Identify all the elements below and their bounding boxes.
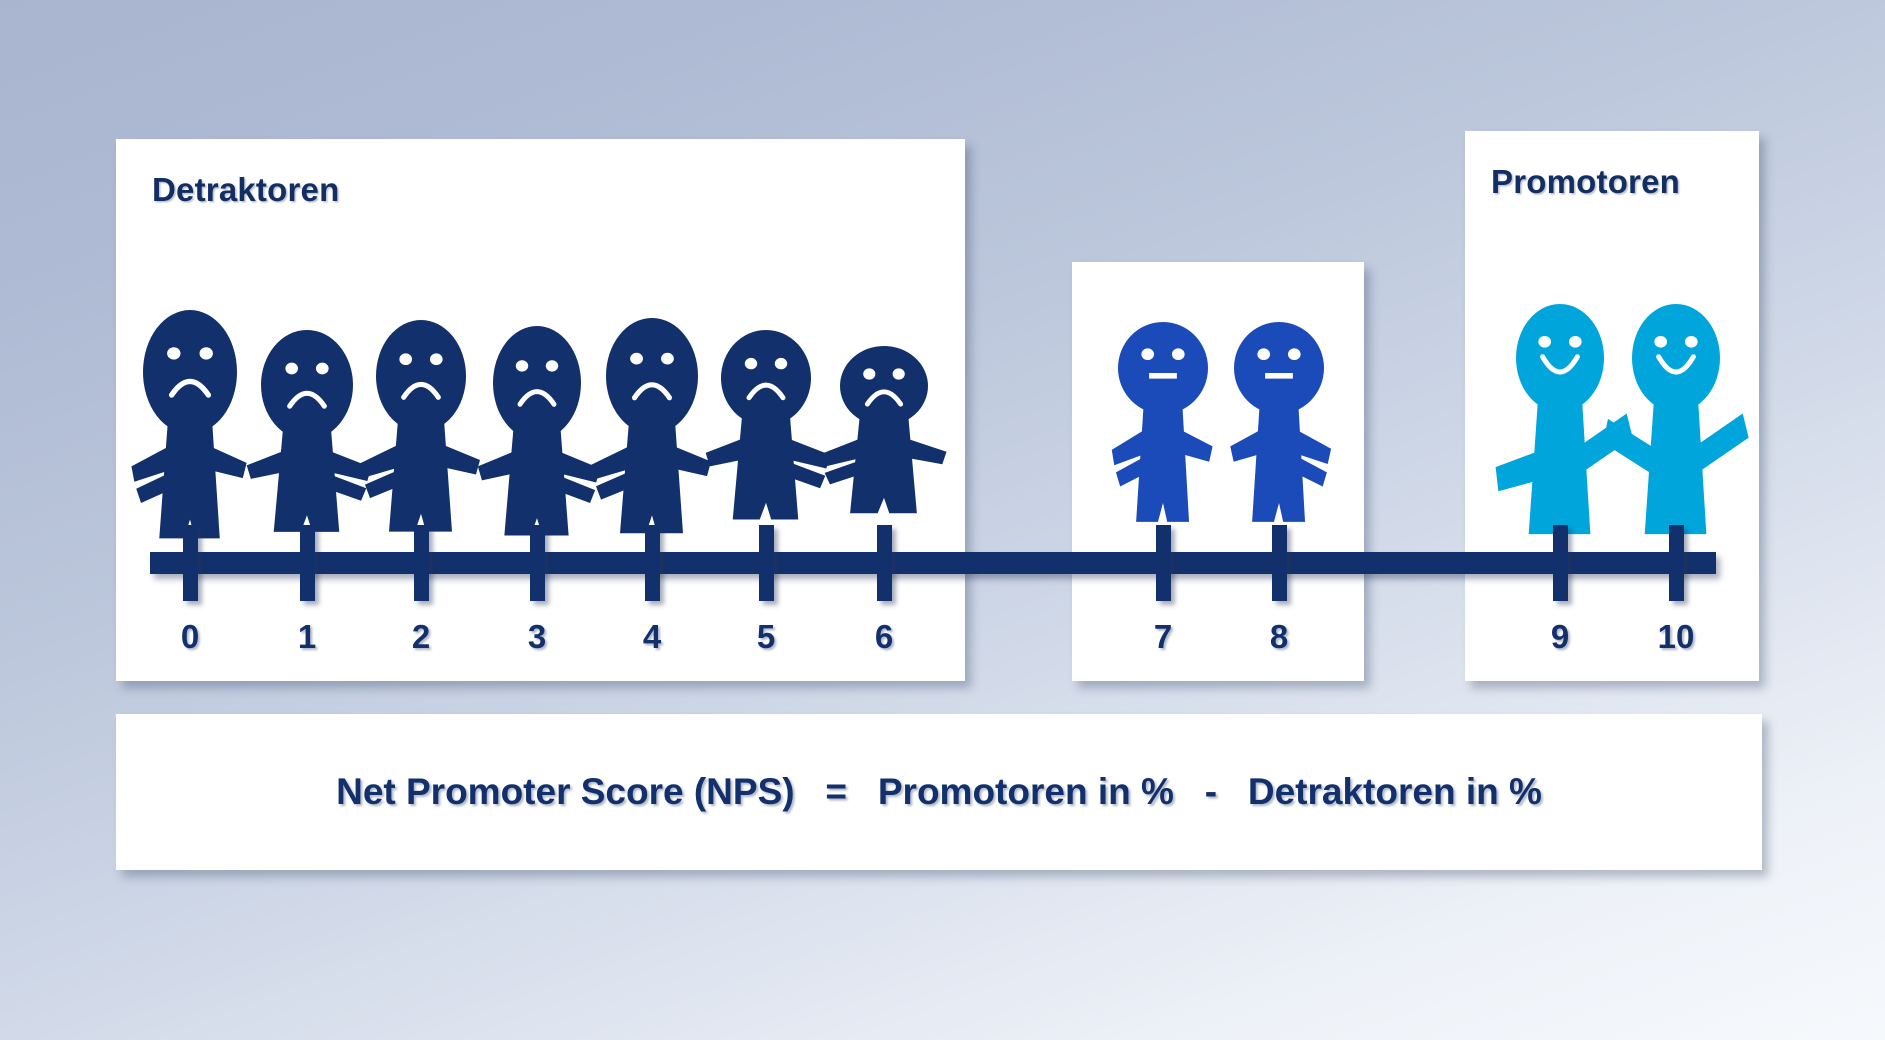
tick-mark-7 — [1156, 525, 1171, 601]
tick-label-7: 7 — [1128, 618, 1198, 656]
tick-label-3: 3 — [502, 618, 572, 656]
tick-mark-9 — [1553, 525, 1568, 601]
nps-diagram-slide: Detraktoren Promotoren 012345678910 Net … — [0, 0, 1885, 1040]
tick-mark-3 — [530, 525, 545, 601]
tick-label-5: 5 — [731, 618, 801, 656]
promoters-title: Promotoren — [1491, 163, 1680, 201]
tick-label-0: 0 — [155, 618, 225, 656]
tick-mark-4 — [645, 525, 660, 601]
tick-label-1: 1 — [272, 618, 342, 656]
tick-label-8: 8 — [1244, 618, 1314, 656]
detractors-title: Detraktoren — [152, 171, 339, 209]
tick-mark-0 — [183, 525, 198, 601]
tick-mark-6 — [877, 525, 892, 601]
tick-label-9: 9 — [1525, 618, 1595, 656]
tick-mark-5 — [759, 525, 774, 601]
tick-label-2: 2 — [386, 618, 456, 656]
nps-scale-axis — [150, 552, 1716, 574]
tick-label-4: 4 — [617, 618, 687, 656]
tick-mark-1 — [300, 525, 315, 601]
formula-panel: Net Promoter Score (NPS) = Promotoren in… — [116, 714, 1762, 870]
tick-mark-10 — [1669, 525, 1684, 601]
tick-label-6: 6 — [849, 618, 919, 656]
tick-mark-8 — [1272, 525, 1287, 601]
nps-formula-text: Net Promoter Score (NPS) = Promotoren in… — [116, 771, 1762, 813]
tick-mark-2 — [414, 525, 429, 601]
tick-label-10: 10 — [1641, 618, 1711, 656]
